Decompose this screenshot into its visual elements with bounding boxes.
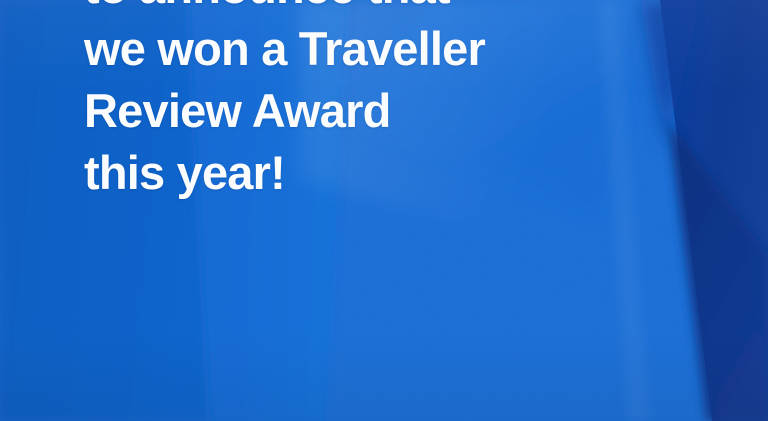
headline-line-2: we won a Traveller	[84, 18, 704, 80]
headline: to announce that we won a Traveller Revi…	[84, 0, 704, 204]
headline-line-4: this year!	[84, 142, 704, 204]
promo-card: to announce that we won a Traveller Revi…	[0, 0, 768, 421]
headline-line-3: Review Award	[84, 80, 704, 142]
headline-line-1: to announce that	[84, 0, 704, 18]
